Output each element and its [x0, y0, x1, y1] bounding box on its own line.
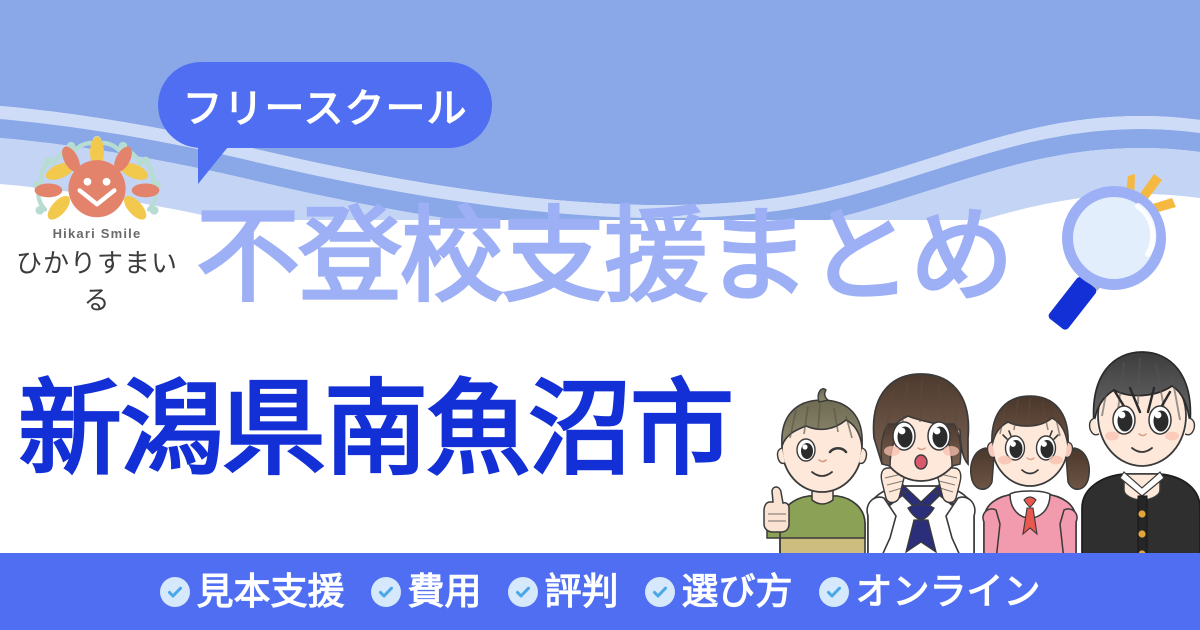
feature-item-4[interactable]: オンライン	[819, 573, 1041, 610]
sun-smile-mandala-icon	[8, 128, 186, 232]
feature-item-label: 評判	[545, 573, 619, 610]
feature-item-3[interactable]: 選び方	[645, 573, 793, 610]
category-badge-label: フリースクール	[183, 76, 468, 134]
feature-bar: 見本支援 費用 評判 選び方 オンライン	[0, 553, 1200, 630]
feature-item-label: 選び方	[682, 573, 793, 610]
feature-item-label: 費用	[408, 573, 482, 610]
check-circle-icon	[645, 577, 675, 607]
feature-item-label: 見本支援	[197, 573, 345, 610]
feature-item-label: オンライン	[856, 573, 1041, 610]
feature-item-0[interactable]: 見本支援	[160, 573, 345, 610]
character-girl-pink-dress	[971, 396, 1089, 560]
character-boy-green-shirt	[764, 389, 867, 560]
student-characters-illustration	[762, 338, 1200, 560]
character-girl-sailor-uniform	[867, 374, 975, 560]
character-boy-gakuran	[1082, 352, 1200, 560]
check-circle-icon	[819, 577, 849, 607]
magnifying-glass-icon	[1022, 158, 1198, 354]
headline-primary: 不登校支援まとめ	[196, 205, 1012, 309]
badge-tail-icon	[198, 142, 232, 184]
category-badge[interactable]: フリースクール	[158, 62, 492, 148]
check-circle-icon	[371, 577, 401, 607]
banner-canvas: フリースクール	[0, 0, 1200, 630]
logo-japanese-name: ひかりすまいる	[8, 243, 186, 317]
check-circle-icon	[160, 577, 190, 607]
logo[interactable]: Hikari Smile ひかりすまいる	[8, 128, 186, 280]
feature-item-1[interactable]: 費用	[371, 573, 482, 610]
feature-item-2[interactable]: 評判	[508, 573, 619, 610]
logo-english-name: Hikari Smile	[8, 226, 186, 241]
check-circle-icon	[508, 577, 538, 607]
headline-location: 新潟県南魚沼市	[18, 378, 732, 482]
